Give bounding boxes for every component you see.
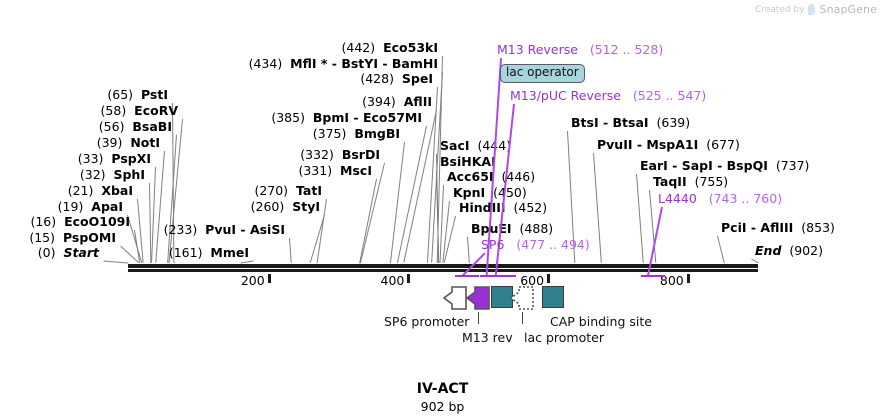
enzyme-position: (450) <box>493 185 527 200</box>
feature-range: (525 .. 547) <box>633 88 706 103</box>
enzyme-name: PvuI <box>205 222 236 237</box>
enzyme-name: AflIII <box>760 220 793 235</box>
feature-label: L4440 (743 .. 760) <box>658 193 782 206</box>
enzyme-position: (56) <box>99 119 125 134</box>
sequence-axis-line-lower <box>128 269 758 272</box>
enzyme-position: (488) <box>520 221 554 236</box>
enzyme-label: (434) MflI * - BstYI - BamHI <box>249 58 438 71</box>
enzyme-name: BmgBI <box>354 126 400 141</box>
page-title: IV-ACT <box>0 381 885 397</box>
enzyme-name: EarI <box>640 158 668 173</box>
enzyme-name: BsrDI <box>342 147 380 162</box>
feature-range: (477 .. 494) <box>516 237 589 252</box>
enzyme-label: (442) Eco53kI <box>342 42 438 55</box>
enzyme-label: (32) SphI <box>80 169 145 182</box>
enzyme-name: PstI <box>141 87 168 102</box>
enzyme-name: BpmI <box>313 110 349 125</box>
enzyme-name: StyI <box>292 199 320 214</box>
enzyme-separator: - <box>349 110 363 125</box>
enzyme-name: BtsI <box>571 115 599 130</box>
enzyme-name: BtsaI <box>613 115 649 130</box>
feature-name: L4440 <box>658 191 697 206</box>
enzyme-name: BstYI <box>341 56 378 71</box>
snapgene-logo-icon <box>808 4 815 15</box>
enzyme-label: TaqII (755) <box>653 176 728 189</box>
enzyme-label: PciI - AflIII (853) <box>721 222 835 235</box>
enzyme-name: SapI <box>682 158 713 173</box>
enzyme-name: BpuEI <box>471 221 512 236</box>
enzyme-position: (853) <box>801 220 835 235</box>
enzyme-name: Eco53kI <box>383 40 438 55</box>
enzyme-name: ApaI <box>91 199 123 214</box>
enzyme-position: (394) <box>362 94 396 109</box>
enzyme-label: (39) NotI <box>97 137 160 150</box>
enzyme-label: (385) BpmI - Eco57MI <box>271 112 422 125</box>
enzyme-name: NotI <box>130 135 160 150</box>
enzyme-leader-line <box>636 174 644 263</box>
feature-label: SP6 (477 .. 494) <box>481 239 590 252</box>
feature-label-stem <box>478 312 479 324</box>
enzyme-position: (442) <box>342 40 376 55</box>
axis-tick-label: 200 <box>241 275 265 288</box>
enzyme-position: (452) <box>514 200 548 215</box>
feature-glyph-box <box>542 286 564 308</box>
enzyme-name: TatI <box>296 183 322 198</box>
enzyme-name: BamHI <box>392 56 438 71</box>
enzyme-leader-line <box>155 151 165 263</box>
enzyme-label: (58) EcoRV <box>101 105 178 118</box>
feature-name: M13 Reverse <box>497 42 578 57</box>
axis-tick <box>268 274 271 283</box>
enzyme-name: XbaI <box>101 183 133 198</box>
axis-tick <box>547 274 550 283</box>
feature-extent-bracket <box>641 274 665 277</box>
enzyme-position: (19) <box>58 199 84 214</box>
feature-glyph-arrow <box>443 286 467 314</box>
enzyme-name: Start <box>63 245 99 260</box>
enzyme-name: PspOMI <box>63 230 116 245</box>
enzyme-label: (394) AflII <box>362 96 432 109</box>
enzyme-position: (331) <box>298 163 332 178</box>
enzyme-label: SacI (444) <box>440 140 511 153</box>
enzyme-label: (56) BsaBI <box>99 121 172 134</box>
enzyme-label: (331) MscI <box>298 165 372 178</box>
enzyme-position: (15) <box>29 230 55 245</box>
enzyme-separator: - <box>327 56 341 71</box>
feature-name: SP6 <box>481 237 504 252</box>
feature-track-label: CAP binding site <box>550 316 652 329</box>
enzyme-name: PciI <box>721 220 747 235</box>
enzyme-position: (755) <box>695 174 729 189</box>
enzyme-label: (15) PspOMI <box>29 232 116 245</box>
enzyme-label: EarI - SapI - BspQI (737) <box>640 160 809 173</box>
enzyme-name: MspA1I <box>646 137 698 152</box>
enzyme-label: (375) BmgBI <box>313 128 400 141</box>
axis-tick <box>407 274 410 283</box>
snapgene-watermark: Created by SnapGene <box>755 3 877 16</box>
enzyme-name: SpeI <box>402 71 433 86</box>
enzyme-name: PvuII <box>597 137 633 152</box>
enzyme-name: End <box>755 243 781 258</box>
feature-glyph-arrow <box>466 286 490 314</box>
enzyme-position: (428) <box>360 71 394 86</box>
sequence-length-label: 902 bp <box>0 399 885 414</box>
enzyme-separator: - <box>747 220 761 235</box>
enzyme-name: HindIII <box>459 200 506 215</box>
feature-track-label: lac promoter <box>524 332 604 345</box>
enzyme-name: AsiSI <box>250 222 285 237</box>
enzyme-name: TaqII <box>653 174 687 189</box>
enzyme-label: (428) SpeI <box>360 73 433 86</box>
enzyme-position: (639) <box>657 115 691 130</box>
enzyme-name: BsiHKAI <box>440 154 496 169</box>
enzyme-position: (32) <box>80 167 106 182</box>
enzyme-position: (385) <box>271 110 305 125</box>
enzyme-name: KpnI <box>453 185 485 200</box>
enzyme-name: PspXI <box>111 151 151 166</box>
enzyme-position: (260) <box>251 199 285 214</box>
enzyme-position: (434) <box>249 56 283 71</box>
enzyme-name: MflI * <box>290 56 327 71</box>
enzyme-label: (332) BsrDI <box>300 149 380 162</box>
enzyme-position: (65) <box>107 87 133 102</box>
enzyme-name: EcoRV <box>134 103 178 118</box>
feature-track-label: M13 rev <box>462 332 513 345</box>
enzyme-leader-line <box>149 183 151 263</box>
enzyme-label: BtsI - BtsaI (639) <box>571 117 690 130</box>
enzyme-position: (270) <box>254 183 288 198</box>
feature-badge-lac-operator: lac operator <box>500 64 585 83</box>
enzyme-label: (0) Start <box>38 247 99 260</box>
enzyme-label: (33) PspXI <box>78 153 151 166</box>
enzyme-separator: - <box>668 158 682 173</box>
enzyme-label: (233) PvuI - AsiSI <box>164 224 285 237</box>
enzyme-name: SphI <box>113 167 145 182</box>
enzyme-name: Acc65I <box>447 169 494 184</box>
feature-range: (512 .. 528) <box>590 42 663 57</box>
enzyme-name: BsaBI <box>132 119 172 134</box>
feature-extent-bracket <box>455 274 479 277</box>
enzyme-position: (21) <box>68 183 94 198</box>
axis-tick-label: 400 <box>381 275 405 288</box>
enzyme-position: (39) <box>97 135 123 150</box>
enzyme-leader-line <box>289 238 292 263</box>
enzyme-label: (19) ApaI <box>58 201 123 214</box>
enzyme-position: (0) <box>38 245 56 260</box>
enzyme-name: EcoO109I <box>64 214 130 229</box>
feature-range: (743 .. 760) <box>709 191 782 206</box>
enzyme-position: (902) <box>789 243 823 258</box>
enzyme-name: BspQI <box>727 158 768 173</box>
enzyme-leader-line <box>103 261 128 264</box>
enzyme-position: (233) <box>164 222 198 237</box>
enzyme-position: (58) <box>101 103 127 118</box>
enzyme-label: PvuII - MspA1I (677) <box>597 139 740 152</box>
enzyme-leader-line <box>397 126 427 263</box>
enzyme-label: (161) MmeI <box>169 247 249 260</box>
enzyme-position: (332) <box>300 147 334 162</box>
enzyme-leader-line <box>751 259 758 264</box>
enzyme-separator: - <box>378 56 392 71</box>
enzyme-name: MmeI <box>210 245 249 260</box>
enzyme-position: (161) <box>169 245 203 260</box>
enzyme-label: (270) TatI <box>254 185 322 198</box>
enzyme-label: (16) EcoO109I <box>30 216 130 229</box>
watermark-brand: SnapGene <box>819 3 877 16</box>
enzyme-position: (33) <box>78 151 104 166</box>
enzyme-leader-line <box>593 153 602 263</box>
enzyme-separator: - <box>599 115 613 130</box>
sequence-axis-line <box>128 264 758 268</box>
enzyme-name: Eco57MI <box>363 110 422 125</box>
enzyme-name: MscI <box>340 163 372 178</box>
enzyme-leader-line <box>151 167 156 263</box>
enzyme-label: (21) XbaI <box>68 185 133 198</box>
enzyme-name: SacI <box>440 138 470 153</box>
axis-tick <box>687 274 690 283</box>
enzyme-position: (737) <box>776 158 810 173</box>
enzyme-position: (16) <box>30 214 56 229</box>
feature-extent-bracket <box>489 274 516 277</box>
enzyme-separator: - <box>633 137 647 152</box>
enzyme-label: (260) StyI <box>251 201 320 214</box>
watermark-prefix: Created by <box>755 5 805 15</box>
enzyme-label: (65) PstI <box>107 89 168 102</box>
enzyme-position: (375) <box>313 126 347 141</box>
enzyme-leader-line <box>467 237 470 263</box>
enzyme-separator: - <box>236 222 250 237</box>
enzyme-separator: - <box>713 158 727 173</box>
enzyme-label: End (902) <box>755 245 823 258</box>
enzyme-label: BpuEI (488) <box>471 223 553 236</box>
enzyme-position: (677) <box>706 137 740 152</box>
enzyme-label: BsiHKAI <box>440 156 496 169</box>
feature-glyph-arrow <box>510 286 534 314</box>
feature-label: M13/pUC Reverse (525 .. 547) <box>510 90 706 103</box>
feature-name: M13/pUC Reverse <box>510 88 621 103</box>
enzyme-leader-line <box>717 236 725 263</box>
enzyme-name: AflII <box>404 94 432 109</box>
feature-label: M13 Reverse (512 .. 528) <box>497 44 663 57</box>
feature-track-label: SP6 promoter <box>384 316 469 329</box>
enzyme-leader-line <box>390 142 405 263</box>
feature-label-stem <box>522 312 523 324</box>
